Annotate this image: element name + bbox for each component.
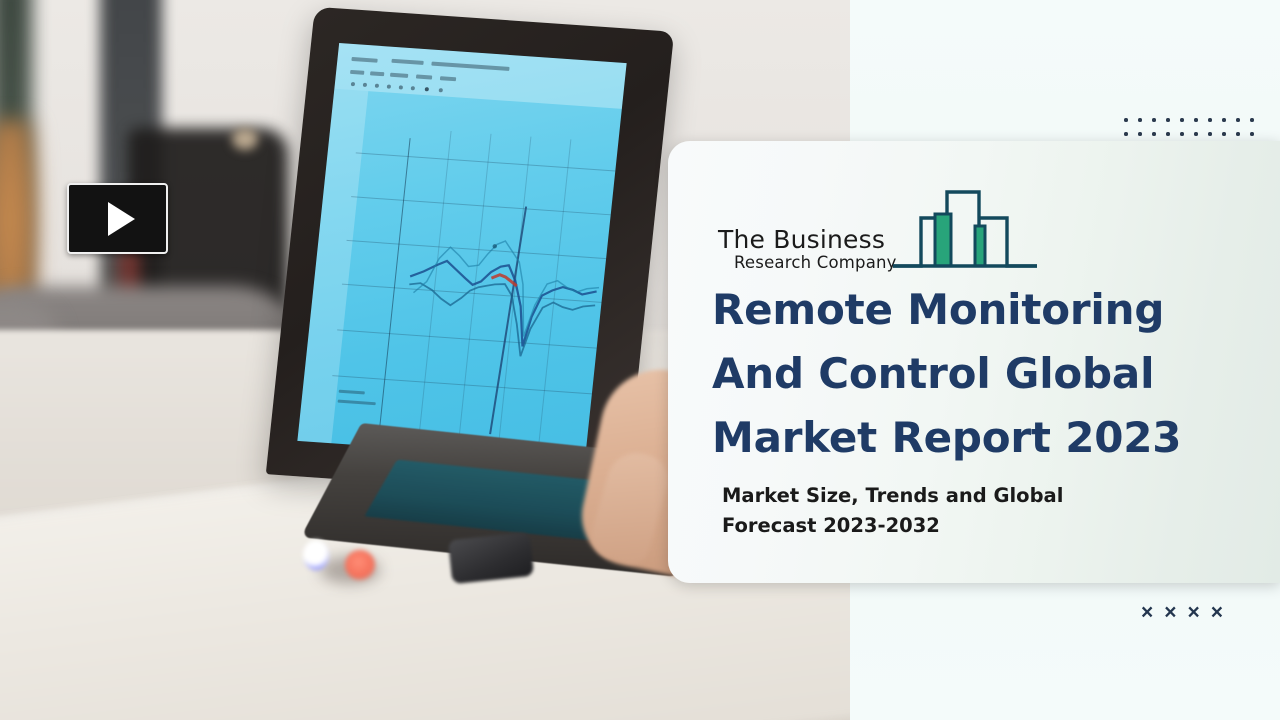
photo-bag-knob	[232, 128, 258, 150]
decor-dot	[1180, 132, 1184, 136]
decor-x-icon: ×	[1141, 602, 1153, 623]
photo-bokeh-light-red	[345, 550, 375, 580]
photo-bokeh-light-white	[303, 540, 329, 570]
photo-desk-object	[448, 532, 534, 584]
brand-logo-line2: Research Company	[734, 255, 897, 272]
x-marks-decoration: × × × ×	[1141, 602, 1223, 623]
report-card: The Business Research Company Remote	[668, 141, 1280, 583]
decor-dot	[1208, 118, 1212, 122]
decor-dot	[1222, 118, 1226, 122]
decor-dot	[1236, 118, 1240, 122]
page-title: Remote Monitoring And Control Global Mar…	[712, 278, 1252, 469]
page-subtitle: Market Size, Trends and Global Forecast …	[722, 481, 1122, 540]
decor-dot	[1166, 118, 1170, 122]
bar-chart-logo-icon	[891, 184, 1039, 273]
brand-logo: The Business Research Company	[718, 184, 1039, 271]
decor-dot	[1166, 132, 1170, 136]
photo-laptop-screen	[297, 43, 626, 461]
decor-dot	[1138, 118, 1142, 122]
decor-dot	[1236, 132, 1240, 136]
decor-dot	[1194, 132, 1198, 136]
decor-dot	[1152, 132, 1156, 136]
decor-dot	[1208, 132, 1212, 136]
decor-dot	[1222, 132, 1226, 136]
decor-x-icon: ×	[1164, 602, 1176, 623]
decor-dot	[1180, 118, 1184, 122]
decor-dot	[1194, 118, 1198, 122]
decor-dot	[1250, 132, 1254, 136]
play-triangle-icon	[108, 202, 135, 236]
brand-logo-line1: The Business	[718, 227, 897, 252]
brand-logo-text: The Business Research Company	[718, 227, 897, 272]
decor-dot	[1124, 132, 1128, 136]
slide-root: The Business Research Company Remote	[0, 0, 1280, 720]
decor-dot	[1138, 132, 1142, 136]
play-button[interactable]	[67, 183, 168, 254]
screen-chart-lines	[297, 43, 626, 461]
decor-dot	[1124, 118, 1128, 122]
decor-dot	[1250, 118, 1254, 122]
decor-x-icon: ×	[1211, 602, 1223, 623]
decor-x-icon: ×	[1188, 602, 1200, 623]
decor-dot	[1152, 118, 1156, 122]
